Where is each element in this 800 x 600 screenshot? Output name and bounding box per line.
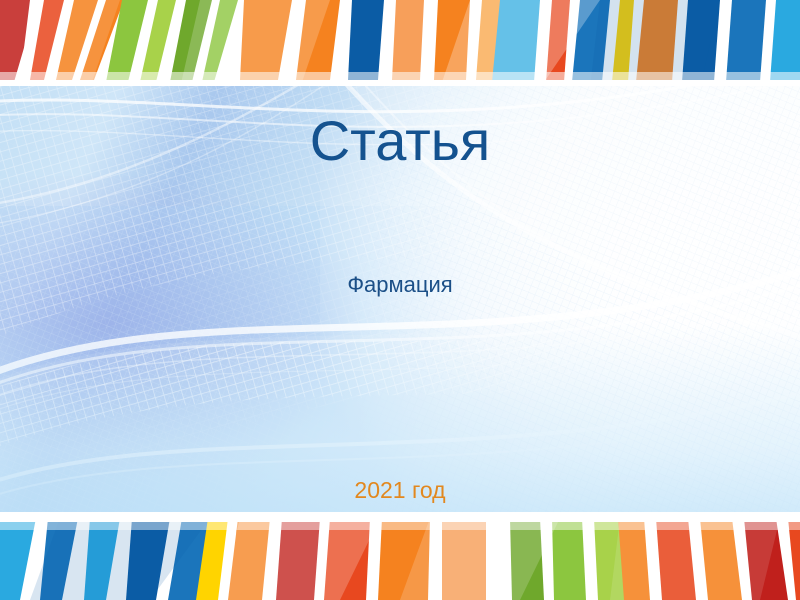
slide-year: 2021 год (0, 477, 800, 504)
slide-subtitle: Фармация (0, 272, 800, 298)
top-shards-graphic (0, 0, 800, 88)
slide-title: Статья (0, 112, 800, 171)
presentation-slide: Статья Фармация 2021 год (0, 0, 800, 600)
top-decorative-band (0, 0, 800, 88)
bottom-decorative-band (0, 512, 800, 600)
bottom-shards-graphic (0, 512, 800, 600)
